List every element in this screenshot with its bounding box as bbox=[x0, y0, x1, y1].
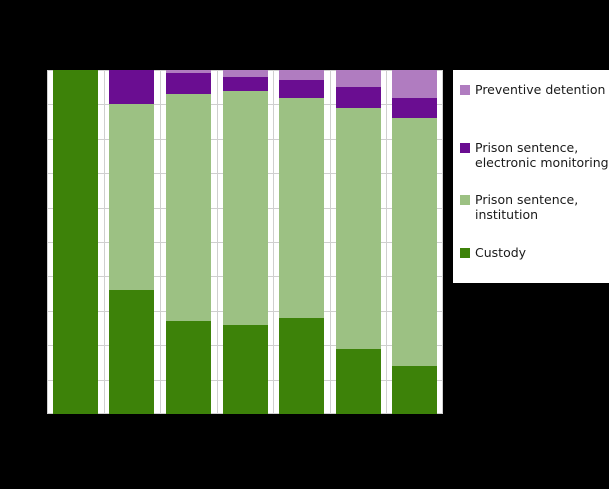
legend-label: Prison sentence, electronic monitoring bbox=[475, 140, 609, 170]
bar-segment[interactable] bbox=[279, 98, 324, 318]
legend-swatch-icon bbox=[460, 248, 470, 258]
bar-segment[interactable] bbox=[279, 80, 324, 97]
bar-series-container bbox=[47, 70, 443, 414]
legend-item[interactable]: Prison sentence, electronic monitoring bbox=[460, 140, 609, 170]
bar-stack[interactable] bbox=[109, 70, 154, 414]
bar-segment[interactable] bbox=[279, 70, 324, 80]
bar-segment[interactable] bbox=[109, 104, 154, 290]
bar-stack[interactable] bbox=[166, 70, 211, 414]
bar-segment[interactable] bbox=[166, 70, 211, 73]
bar-segment[interactable] bbox=[392, 70, 437, 98]
bar-segment[interactable] bbox=[223, 325, 268, 414]
plot-area bbox=[47, 70, 443, 414]
legend-item[interactable]: Custody bbox=[460, 245, 526, 260]
bar-segment[interactable] bbox=[336, 87, 381, 108]
bar-segment[interactable] bbox=[392, 366, 437, 414]
legend-item[interactable]: Prison sentence, institution bbox=[460, 192, 578, 222]
bar-segment[interactable] bbox=[109, 70, 154, 104]
bar-segment[interactable] bbox=[53, 70, 98, 414]
legend-swatch-icon bbox=[460, 85, 470, 95]
legend-swatch-icon bbox=[460, 195, 470, 205]
bar-segment[interactable] bbox=[166, 321, 211, 414]
chart-legend: Preventive detentionPrison sentence, ele… bbox=[453, 70, 609, 283]
legend-label: Preventive detention bbox=[475, 82, 605, 97]
bar-stack[interactable] bbox=[392, 70, 437, 414]
bar-stack[interactable] bbox=[279, 70, 324, 414]
bar-stack[interactable] bbox=[336, 70, 381, 414]
legend-label: Custody bbox=[475, 245, 526, 260]
bar-stack[interactable] bbox=[53, 70, 98, 414]
bar-segment[interactable] bbox=[392, 98, 437, 119]
bar-segment[interactable] bbox=[223, 77, 268, 91]
bar-stack[interactable] bbox=[223, 70, 268, 414]
legend-label: Prison sentence, institution bbox=[475, 192, 578, 222]
bar-segment[interactable] bbox=[392, 118, 437, 366]
bar-segment[interactable] bbox=[166, 94, 211, 321]
bar-segment[interactable] bbox=[336, 349, 381, 414]
bar-segment[interactable] bbox=[336, 70, 381, 87]
chart-figure: Preventive detentionPrison sentence, ele… bbox=[0, 0, 609, 489]
legend-item[interactable]: Preventive detention bbox=[460, 82, 605, 97]
bar-segment[interactable] bbox=[336, 108, 381, 349]
bar-segment[interactable] bbox=[223, 70, 268, 77]
bar-segment[interactable] bbox=[279, 318, 324, 414]
bar-segment[interactable] bbox=[223, 91, 268, 325]
bar-segment[interactable] bbox=[109, 290, 154, 414]
bar-segment[interactable] bbox=[166, 73, 211, 94]
legend-swatch-icon bbox=[460, 143, 470, 153]
